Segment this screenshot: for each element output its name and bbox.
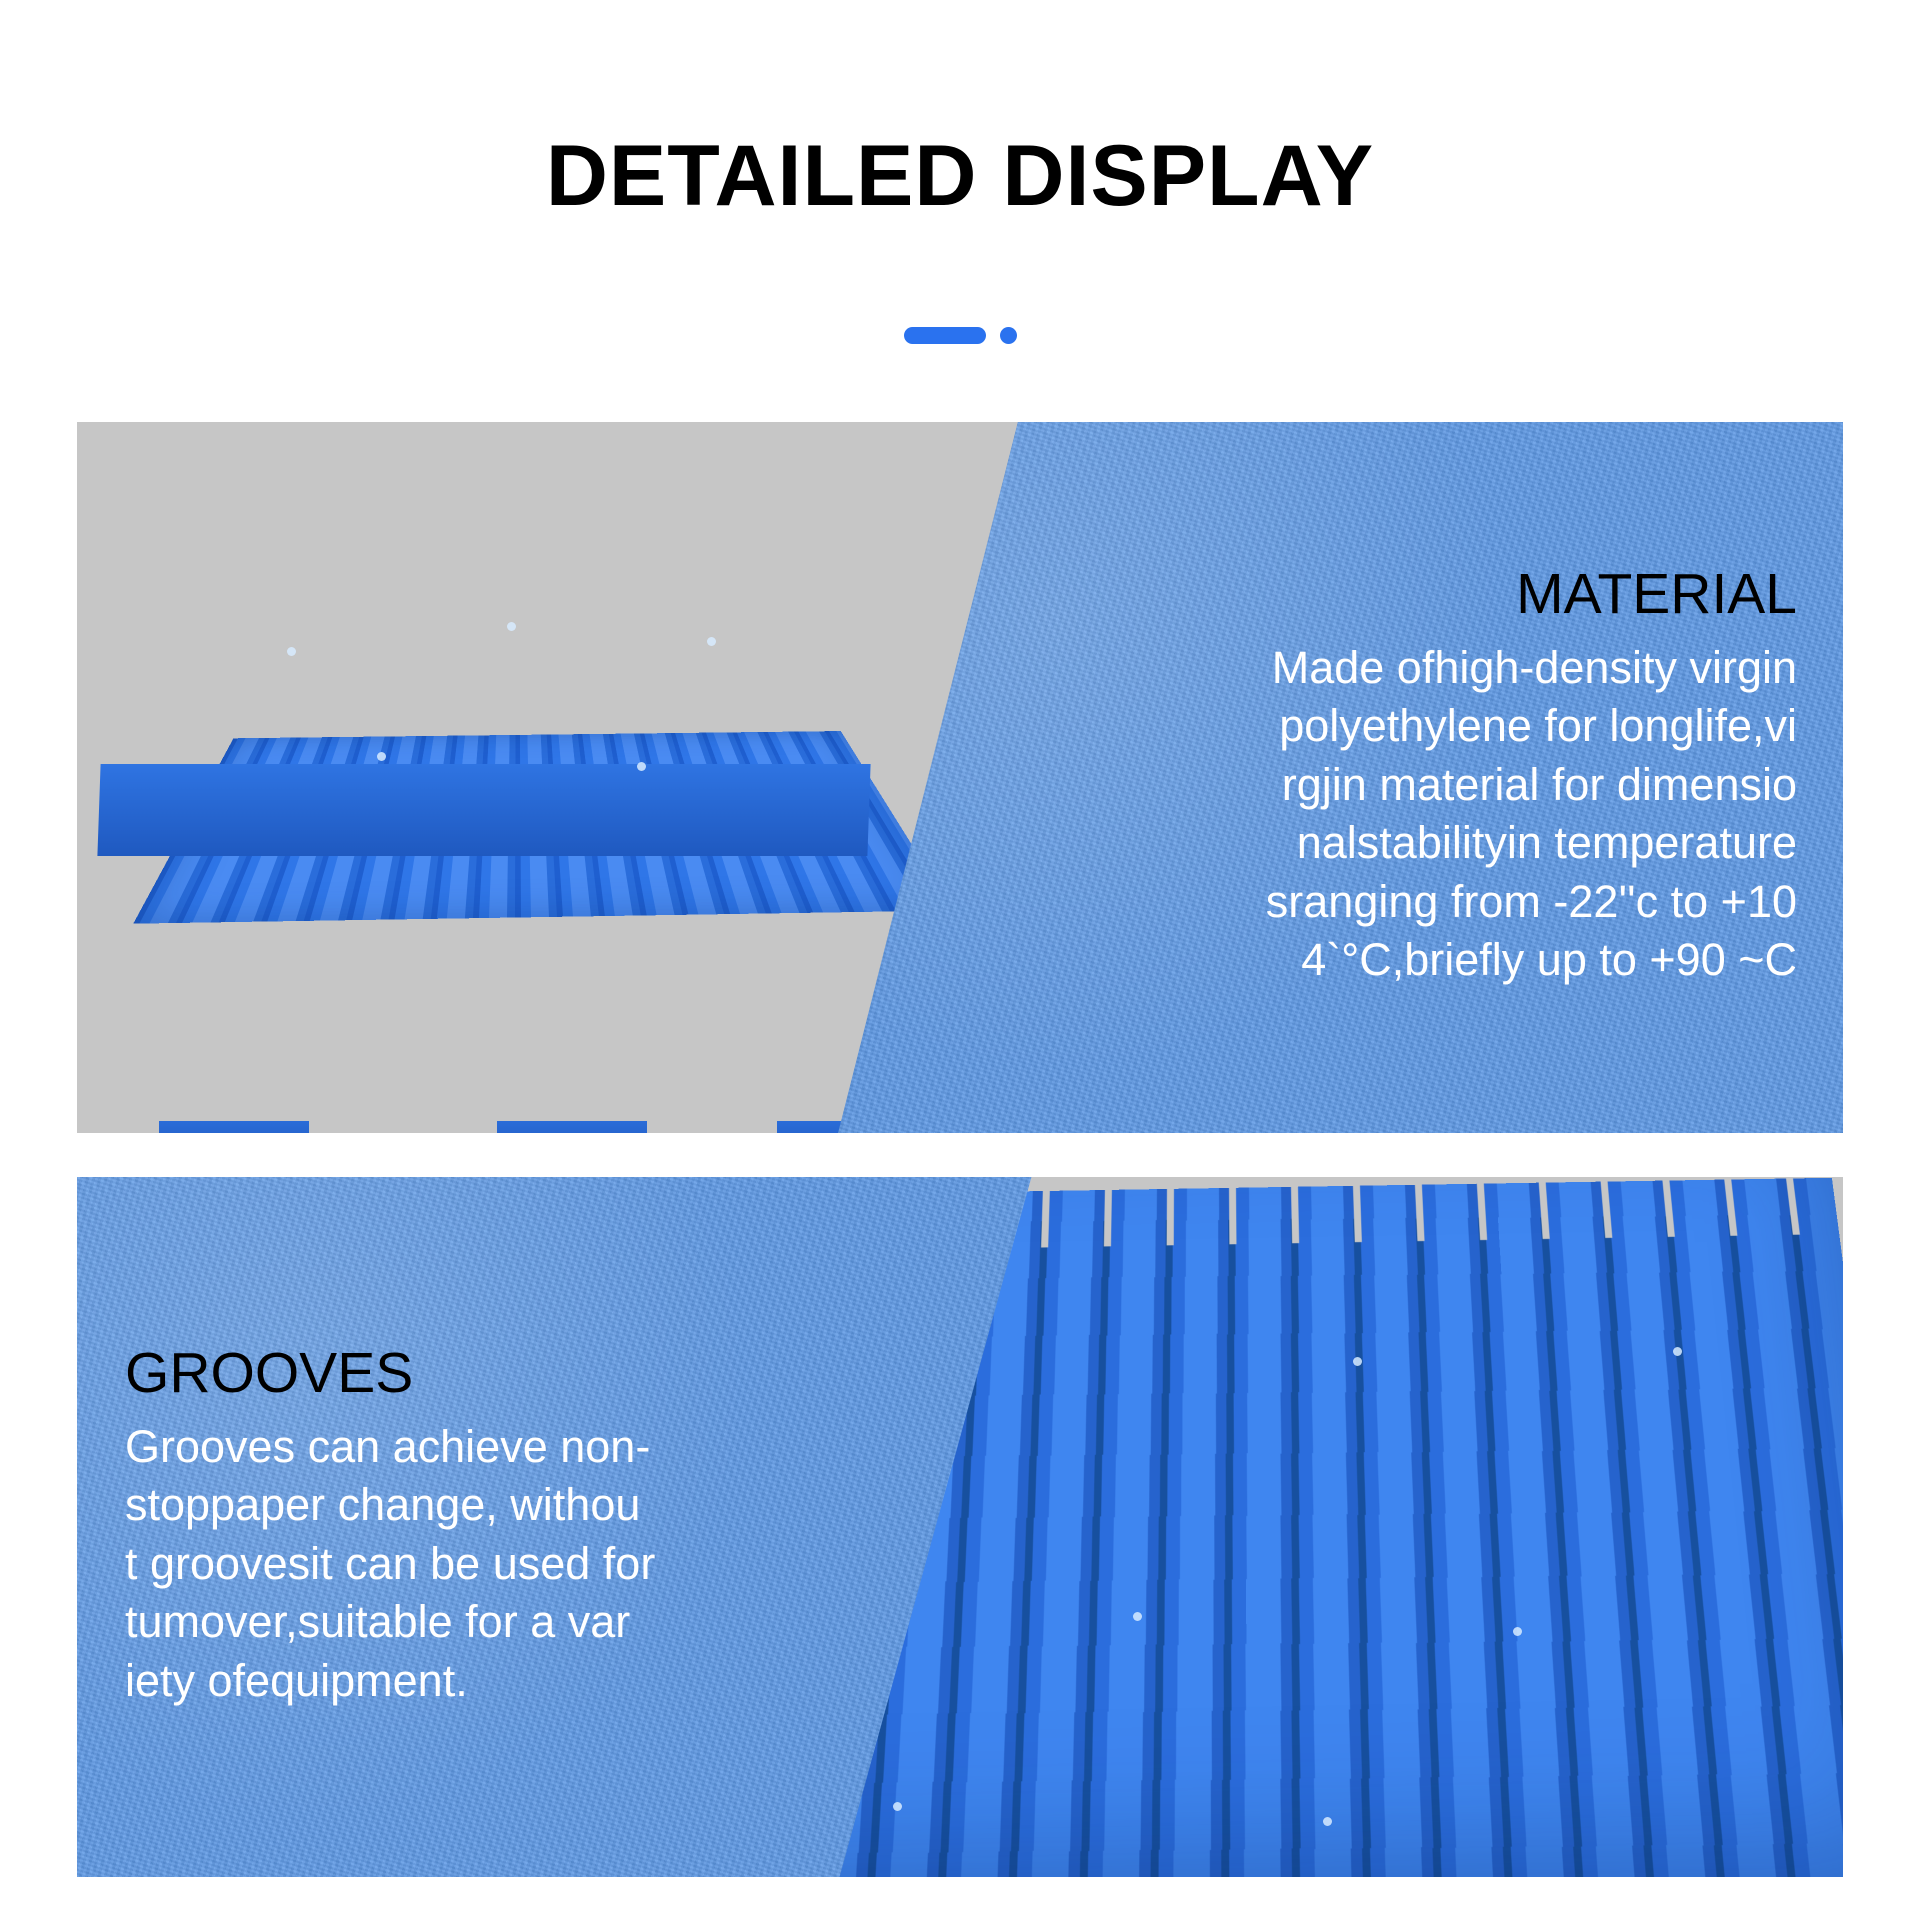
- pallet-front-rail: [97, 764, 870, 856]
- pallet-rivet: [637, 762, 646, 771]
- body-line: sranging from -22''c to +10: [1266, 873, 1797, 932]
- pallet-rivet: [707, 637, 716, 646]
- body-line: iety ofequipment.: [125, 1652, 655, 1711]
- pallet-leg: [497, 1121, 647, 1133]
- card-body-material: Made ofhigh-density virgin polyethylene …: [1266, 639, 1797, 990]
- detail-display-page: DETAILED DISPLAY: [0, 0, 1920, 1908]
- card-title-material: MATERIAL: [1516, 565, 1797, 625]
- pallet-rivet: [377, 752, 386, 761]
- body-line: tumover,suitable for a var: [125, 1593, 655, 1652]
- pallet-leg: [159, 1121, 309, 1133]
- card-body-grooves: Grooves can achieve non- stoppaper chang…: [125, 1418, 655, 1711]
- page-header: DETAILED DISPLAY: [0, 0, 1920, 422]
- pallet-rivet: [1513, 1627, 1522, 1636]
- pallet-rivet: [1673, 1347, 1682, 1356]
- page-title: DETAILED DISPLAY: [0, 133, 1920, 219]
- divider-dot-icon: [1000, 327, 1017, 344]
- pallet-rivet: [1133, 1612, 1142, 1621]
- body-line: Made ofhigh-density virgin: [1266, 639, 1797, 698]
- body-line: 4`°C,briefly up to +90 ~C: [1266, 931, 1797, 990]
- pallet-rivet: [287, 647, 296, 656]
- body-line: rgjin material for dimensio: [1266, 756, 1797, 815]
- body-line: stoppaper change, withou: [125, 1476, 655, 1535]
- pallet-rivet: [893, 1802, 902, 1811]
- divider-bar-icon: [904, 327, 986, 344]
- pallet-rivet: [507, 622, 516, 631]
- body-line: Grooves can achieve non-: [125, 1418, 655, 1477]
- feature-card-grooves: GROOVES Grooves can achieve non- stoppap…: [77, 1177, 1843, 1877]
- body-line: t groovesit can be used for: [125, 1535, 655, 1594]
- pallet-fork-opening: [309, 1121, 497, 1133]
- title-divider: [0, 320, 1920, 350]
- pallet-rivet: [1323, 1817, 1332, 1826]
- feature-card-material: MATERIAL Made ofhigh-density virgin poly…: [77, 422, 1843, 1133]
- pallet-rivet: [1353, 1357, 1362, 1366]
- card-title-grooves: GROOVES: [125, 1344, 413, 1404]
- pallet-fork-opening: [647, 1121, 777, 1133]
- body-line: nalstabilityin temperature: [1266, 814, 1797, 873]
- body-line: polyethylene for longlife,vi: [1266, 697, 1797, 756]
